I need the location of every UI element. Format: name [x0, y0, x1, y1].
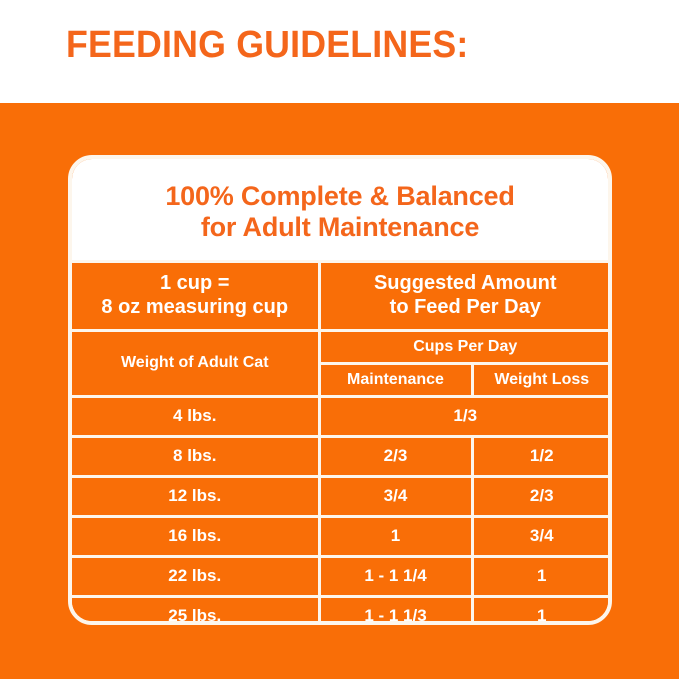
weight-loss-cell: 1 [472, 596, 610, 625]
weight-cell: 25 lbs. [72, 596, 319, 625]
weight-of-adult-cat-header: Weight of Adult Cat [72, 330, 319, 396]
weight-cell: 22 lbs. [72, 556, 319, 596]
maintenance-cell: 1 - 1 1/4 [319, 556, 472, 596]
weight-loss-cell: 1/2 [472, 436, 610, 476]
title-band: FEEDING GUIDELINES: [0, 0, 679, 103]
table-row: 12 lbs. 3/4 2/3 [72, 476, 610, 516]
suggested-line-2: to Feed Per Day [321, 296, 611, 320]
weight-cell: 8 lbs. [72, 436, 319, 476]
weight-cell: 16 lbs. [72, 516, 319, 556]
suggested-amount-cell: Suggested Amount to Feed Per Day [319, 261, 610, 330]
maintenance-cell: 2/3 [319, 436, 472, 476]
merged-amount-cell: 1/3 [319, 396, 610, 436]
suggested-line-1: Suggested Amount [321, 272, 611, 296]
feeding-table: 1 cup = 8 oz measuring cup Suggested Amo… [72, 260, 610, 625]
cups-per-day-header: Cups Per Day [319, 330, 610, 363]
feeding-guidelines-card: 100% Complete & Balanced for Adult Maint… [68, 155, 612, 625]
table-header-row-cups: Weight of Adult Cat Cups Per Day [72, 330, 610, 363]
card-header-line-2: for Adult Maintenance [82, 212, 598, 243]
weight-loss-cell: 1 [472, 556, 610, 596]
weight-loss-header: Weight Loss [472, 363, 610, 396]
maintenance-cell: 3/4 [319, 476, 472, 516]
orange-body-panel: 100% Complete & Balanced for Adult Maint… [0, 103, 679, 679]
cup-note-line-1: 1 cup = [72, 272, 318, 296]
table-header-row-top: 1 cup = 8 oz measuring cup Suggested Amo… [72, 261, 610, 330]
table-row: 25 lbs. 1 - 1 1/3 1 [72, 596, 610, 625]
weight-loss-cell: 3/4 [472, 516, 610, 556]
maintenance-header: Maintenance [319, 363, 472, 396]
card-header: 100% Complete & Balanced for Adult Maint… [72, 159, 608, 260]
cup-note-line-2: 8 oz measuring cup [72, 296, 318, 320]
weight-cell: 4 lbs. [72, 396, 319, 436]
maintenance-cell: 1 [319, 516, 472, 556]
table-row: 22 lbs. 1 - 1 1/4 1 [72, 556, 610, 596]
card-header-line-1: 100% Complete & Balanced [82, 181, 598, 212]
weight-loss-cell: 2/3 [472, 476, 610, 516]
cup-note-cell: 1 cup = 8 oz measuring cup [72, 261, 319, 330]
table-row: 8 lbs. 2/3 1/2 [72, 436, 610, 476]
maintenance-cell: 1 - 1 1/3 [319, 596, 472, 625]
weight-cell: 12 lbs. [72, 476, 319, 516]
table-row: 4 lbs. 1/3 [72, 396, 610, 436]
page-title: FEEDING GUIDELINES: [66, 24, 468, 67]
table-row: 16 lbs. 1 3/4 [72, 516, 610, 556]
